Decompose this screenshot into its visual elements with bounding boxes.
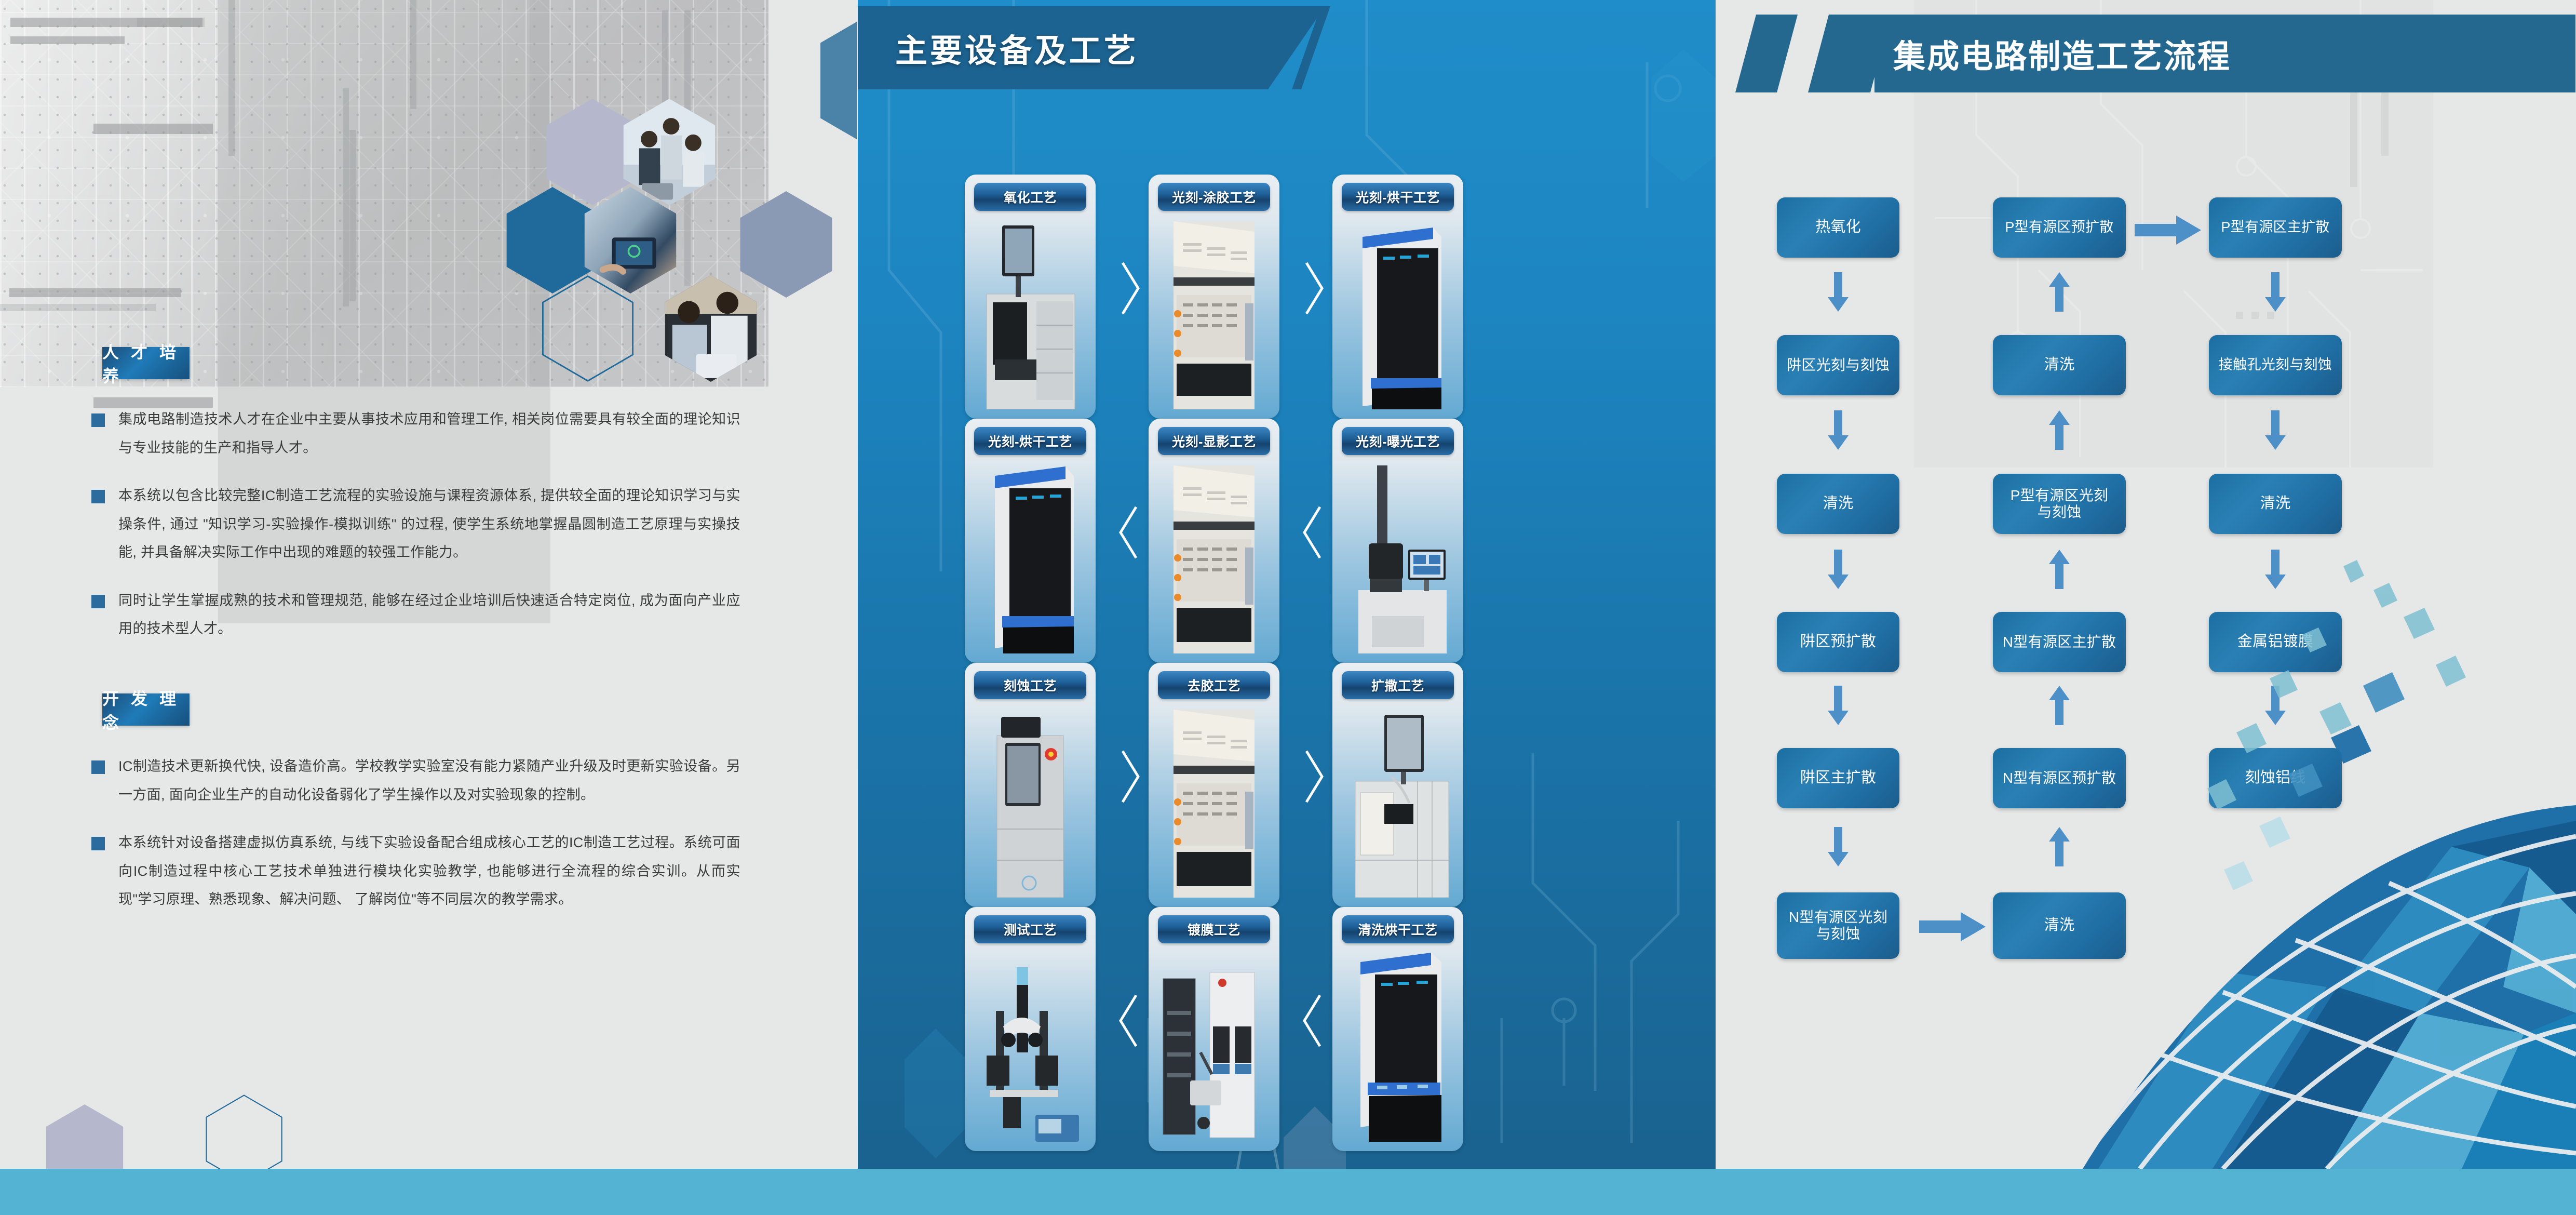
arrow-right-icon — [2135, 216, 2201, 247]
paragraph: 本系统以包含比较完整IC制造工艺流程的实验设施与课程资源体系, 提供较全面的理论… — [91, 482, 740, 567]
wave-graphic — [2005, 743, 2576, 1169]
equipment-label: 清洗烘干工艺 — [1342, 915, 1454, 943]
equipment-label: 氧化工艺 — [974, 183, 1086, 211]
equipment-card[interactable]: 刻蚀工艺 — [965, 663, 1096, 907]
right-panel: 集成电路制造工艺流程 热氧化 P型有源区预扩散 P型有源区主扩散 阱区光刻 — [1717, 0, 2576, 1169]
bullet-square-icon — [91, 595, 105, 608]
flow-box[interactable]: 阱区主扩散 — [1777, 748, 1899, 808]
equipment-photo-cleandry — [1340, 949, 1456, 1142]
flow-box[interactable]: 热氧化 — [1777, 197, 1899, 258]
equipment-label: 光刻-显影工艺 — [1158, 427, 1270, 455]
chevron-right-icon — [1301, 748, 1325, 805]
section-title-talent: 人 才 培 养 — [102, 347, 190, 379]
flow-box[interactable]: P型有源区主扩散 — [2209, 197, 2342, 258]
chevron-right-icon — [1301, 260, 1325, 317]
hexagon-decor-4 — [740, 191, 832, 298]
bullet-square-icon — [91, 490, 105, 503]
arrow-up-icon — [2049, 410, 2070, 452]
flow-box[interactable]: P型有源区预扩散 — [1993, 197, 2126, 258]
chevron-left-icon — [1301, 504, 1325, 561]
equipment-card[interactable]: 光刻-烘干工艺 — [1332, 175, 1463, 419]
arrow-up-icon — [2049, 550, 2070, 592]
paragraph-text: 同时让学生掌握成熟的技术和管理规范, 能够在经过企业培训后快速适合特定岗位, 成… — [118, 586, 740, 643]
arrow-down-icon — [1828, 410, 1849, 452]
equipment-photo-deposition — [1156, 949, 1272, 1142]
bullet-square-icon — [91, 837, 105, 850]
flow-box[interactable]: 阱区光刻与刻蚀 — [1777, 335, 1899, 395]
equipment-label: 光刻-烘干工艺 — [974, 427, 1086, 455]
section-title-philosophy: 开 发 理 念 — [102, 693, 190, 726]
left-panel: 人 才 培 养 集成电路制造技术人才在企业中主要从事技术应用和管理工作, 相关岗… — [0, 0, 857, 1215]
equipment-photo-develop — [1156, 460, 1272, 653]
center-title-banner: 主要设备及工艺 — [858, 6, 1372, 89]
chevron-left-icon — [1301, 992, 1325, 1049]
equipment-label: 光刻-涂胶工艺 — [1158, 183, 1270, 211]
paragraph-text: IC制造技术更新换代快, 设备造价高。学校教学实验室没有能力紧随产业升级及时更新… — [118, 752, 740, 809]
flow-box[interactable]: 阱区预扩散 — [1777, 612, 1899, 672]
equipment-photo-etch — [972, 704, 1088, 898]
chevron-left-icon — [1117, 504, 1141, 561]
equipment-photo-test — [972, 949, 1088, 1142]
chevron-right-icon — [1117, 260, 1141, 317]
equipment-label: 扩撒工艺 — [1342, 671, 1454, 699]
arrow-right-icon — [1919, 912, 1986, 944]
equipment-card[interactable]: 光刻-显影工艺 — [1149, 419, 1279, 663]
paragraph: 同时让学生掌握成熟的技术和管理规范, 能够在经过企业培训后快速适合特定岗位, 成… — [91, 586, 740, 643]
chevron-left-icon — [1117, 992, 1141, 1049]
paragraph-text: 本系统以包含比较完整IC制造工艺流程的实验设施与课程资源体系, 提供较全面的理论… — [118, 482, 740, 567]
flow-box[interactable]: 清洗 — [1777, 474, 1899, 534]
flow-box[interactable]: 接触孔光刻与刻蚀 — [2209, 335, 2342, 395]
equipment-photo-diffusion — [1340, 704, 1456, 898]
equipment-card[interactable]: 光刻-烘干工艺 — [965, 419, 1096, 663]
flow-box[interactable]: 清洗 — [2209, 474, 2342, 534]
poster-canvas: 人 才 培 养 集成电路制造技术人才在企业中主要从事技术应用和管理工作, 相关岗… — [0, 0, 2576, 1215]
equipment-label: 镀膜工艺 — [1158, 915, 1270, 943]
center-panel: 主要设备及工艺 氧化工艺 光刻-涂胶工艺 — [858, 0, 1716, 1169]
arrow-down-icon — [1828, 550, 1849, 592]
equipment-card[interactable]: 清洗烘干工艺 — [1332, 907, 1463, 1151]
arrow-down-icon — [2265, 410, 2286, 452]
equipment-label: 测试工艺 — [974, 915, 1086, 943]
paragraph: IC制造技术更新换代快, 设备造价高。学校教学实验室没有能力紧随产业升级及时更新… — [91, 752, 740, 809]
paragraph: 本系统针对设备搭建虚拟仿真系统, 与线下实验设备配合组成核心工艺的IC制造工艺过… — [91, 829, 740, 914]
equipment-label: 刻蚀工艺 — [974, 671, 1086, 699]
flow-box[interactable]: 清洗 — [1993, 335, 2126, 395]
equipment-photo-bake — [1340, 216, 1456, 409]
equipment-photo-strip — [1156, 704, 1272, 898]
arrow-down-icon — [1828, 272, 1849, 314]
equipment-card[interactable]: 去胶工艺 — [1149, 663, 1279, 907]
hexagon-photo-celebration — [623, 99, 716, 205]
chevron-right-icon — [1117, 748, 1141, 805]
equipment-label: 光刻-曝光工艺 — [1342, 427, 1454, 455]
hexagon-outline-1 — [542, 275, 634, 382]
equipment-card[interactable]: 镀膜工艺 — [1149, 907, 1279, 1151]
arrow-up-icon — [2049, 272, 2070, 314]
flow-box[interactable]: P型有源区光刻 与刻蚀 — [1993, 474, 2126, 534]
talent-body: 集成电路制造技术人才在企业中主要从事技术应用和管理工作, 相关岗位需要具有较全面… — [91, 405, 740, 663]
flow-box[interactable]: N型有源区主扩散 — [1993, 612, 2126, 672]
equipment-card[interactable]: 氧化工艺 — [965, 175, 1096, 419]
flow-box[interactable]: N型有源区光刻 与刻蚀 — [1777, 892, 1899, 959]
arrow-down-icon — [2265, 272, 2286, 314]
paragraph: 集成电路制造技术人才在企业中主要从事技术应用和管理工作, 相关岗位需要具有较全面… — [91, 405, 740, 462]
equipment-card[interactable]: 光刻-曝光工艺 — [1332, 419, 1463, 663]
bullet-square-icon — [91, 413, 105, 427]
equipment-card[interactable]: 扩撒工艺 — [1332, 663, 1463, 907]
philosophy-body: IC制造技术更新换代快, 设备造价高。学校教学实验室没有能力紧随产业升级及时更新… — [91, 752, 740, 933]
equipment-card[interactable]: 光刻-涂胶工艺 — [1149, 175, 1279, 419]
equipment-photo-exposure — [1340, 460, 1456, 653]
equipment-label: 去胶工艺 — [1158, 671, 1270, 699]
equipment-photo-oxidation — [972, 216, 1088, 409]
equipment-photo-bake2 — [972, 460, 1088, 653]
arrow-down-icon — [1828, 827, 1849, 869]
bullet-square-icon — [91, 760, 105, 774]
hexagon-decor-1 — [820, 5, 857, 156]
paragraph-text: 集成电路制造技术人才在企业中主要从事技术应用和管理工作, 相关岗位需要具有较全面… — [118, 405, 740, 462]
equipment-photo-coating — [1156, 216, 1272, 409]
bottom-accent-bar — [0, 1169, 2576, 1215]
paragraph-text: 本系统针对设备搭建虚拟仿真系统, 与线下实验设备配合组成核心工艺的IC制造工艺过… — [118, 829, 740, 914]
arrow-up-icon — [2049, 686, 2070, 728]
equipment-card[interactable]: 测试工艺 — [965, 907, 1096, 1151]
equipment-label: 光刻-烘干工艺 — [1342, 183, 1454, 211]
center-panel-title: 主要设备及工艺 — [895, 6, 1139, 89]
arrow-down-icon — [1828, 686, 1849, 728]
